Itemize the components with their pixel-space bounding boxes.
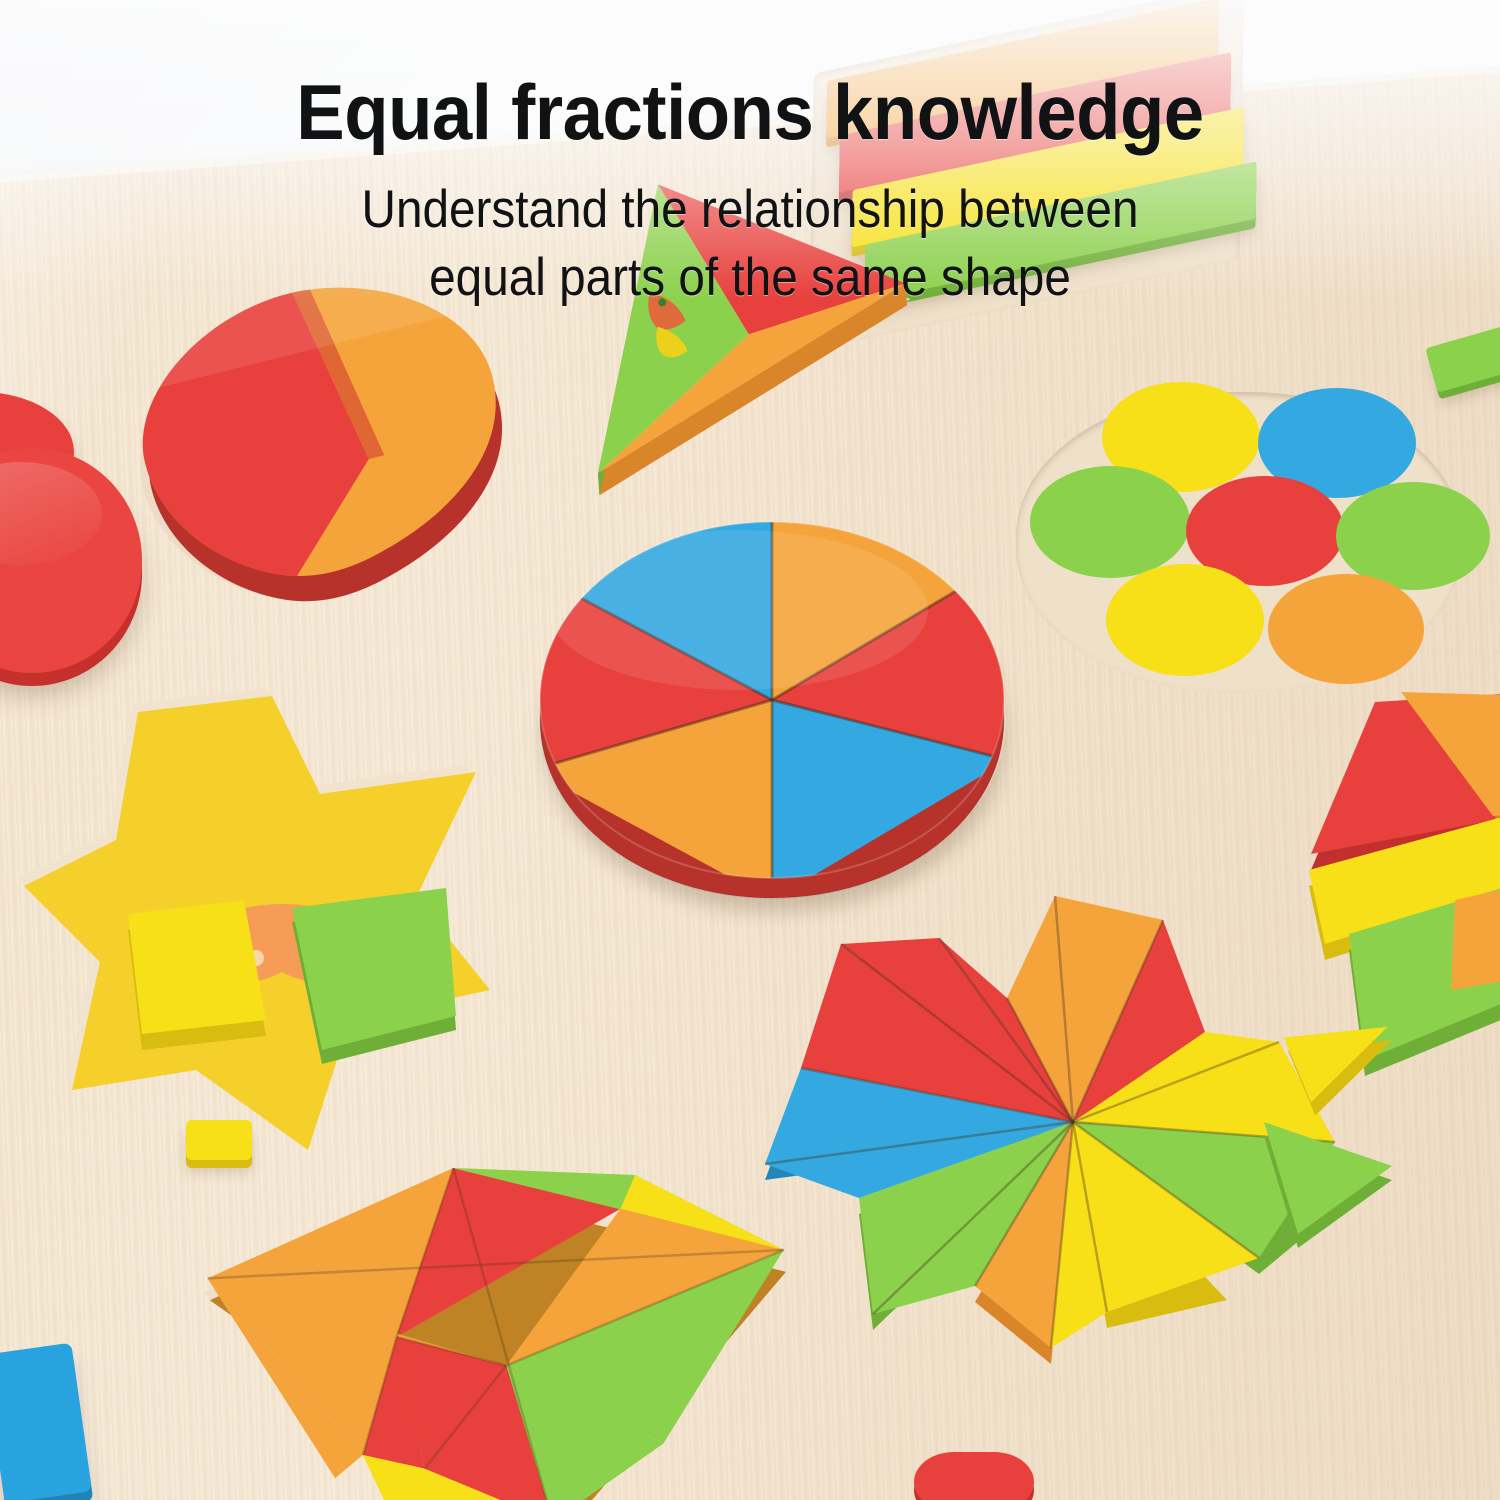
puzzle-piece-disc-flower[interactable] <box>1010 378 1480 708</box>
puzzle-photo-scene: Equal fractions knowledge Understand the… <box>0 0 1500 1500</box>
puzzle-piece-circle-sixths[interactable] <box>538 520 1012 920</box>
disc-green-left[interactable] <box>1030 466 1190 578</box>
puzzle-piece-stray-red-edge[interactable] <box>914 1452 1034 1500</box>
puzzle-piece-triangle-thirds[interactable] <box>550 163 930 487</box>
puzzle-piece-stray-yellow-small[interactable] <box>186 1120 252 1160</box>
loose-piece-yellow <box>128 900 266 1034</box>
puzzle-piece-red-disc-whole[interactable] <box>0 448 142 673</box>
puzzle-piece-yellow-star-socket[interactable] <box>20 690 540 1160</box>
puzzle-piece-stray-green-triangle[interactable] <box>1258 1118 1398 1238</box>
disc-yellow-bottom[interactable] <box>1106 564 1264 676</box>
puzzle-piece-triangle-square-eighths[interactable] <box>161 1098 838 1500</box>
disc-orange-bottom-right[interactable] <box>1268 574 1424 684</box>
